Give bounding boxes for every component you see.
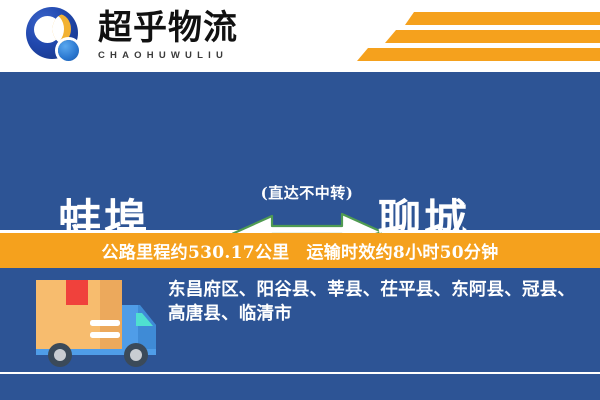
banner-header: 超乎物流 CHAOHUWULIU (0, 0, 600, 70)
stripe-2 (385, 30, 600, 43)
bottom-divider (0, 372, 600, 374)
stripe-3 (357, 48, 600, 61)
coverage-panel: 东昌府区、阳谷县、莘县、茌平县、东阿县、冠县、高唐县、临清市 (0, 268, 600, 400)
delivery-truck-svg (28, 277, 168, 369)
stripe-1 (405, 12, 600, 25)
delivery-truck-icon (28, 277, 168, 369)
brand-logo: 超乎物流 CHAOHUWULIU (26, 8, 326, 64)
brand-name-block: 超乎物流 CHAOHUWULIU (98, 11, 238, 61)
route-panel: 蚌埠 (直达不中转) 【往返运输】 聊城 (0, 72, 600, 230)
direct-route-note: (直达不中转) (232, 186, 382, 201)
logistics-route-banner: 超乎物流 CHAOHUWULIU 蚌埠 (直达不中转) 【往返运输】 聊城 公路… (0, 0, 600, 400)
duration-label: 运输时效约8小时50分钟 (306, 238, 498, 263)
circle-crescent-logo-icon (26, 7, 84, 65)
route-info-bar: 公路里程约530.17公里 运输时效约8小时50分钟 (0, 233, 600, 268)
header-stripe-decoration (350, 8, 600, 68)
distance-label: 公路里程约530.17公里 (101, 238, 289, 263)
coverage-areas-text: 东昌府区、阳谷县、莘县、茌平县、东阿县、冠县、高唐县、临清市 (168, 278, 586, 326)
brand-name-cn: 超乎物流 (98, 11, 238, 47)
logo-accent-dot-shape (58, 40, 79, 61)
brand-name-en: CHAOHUWULIU (98, 50, 238, 61)
